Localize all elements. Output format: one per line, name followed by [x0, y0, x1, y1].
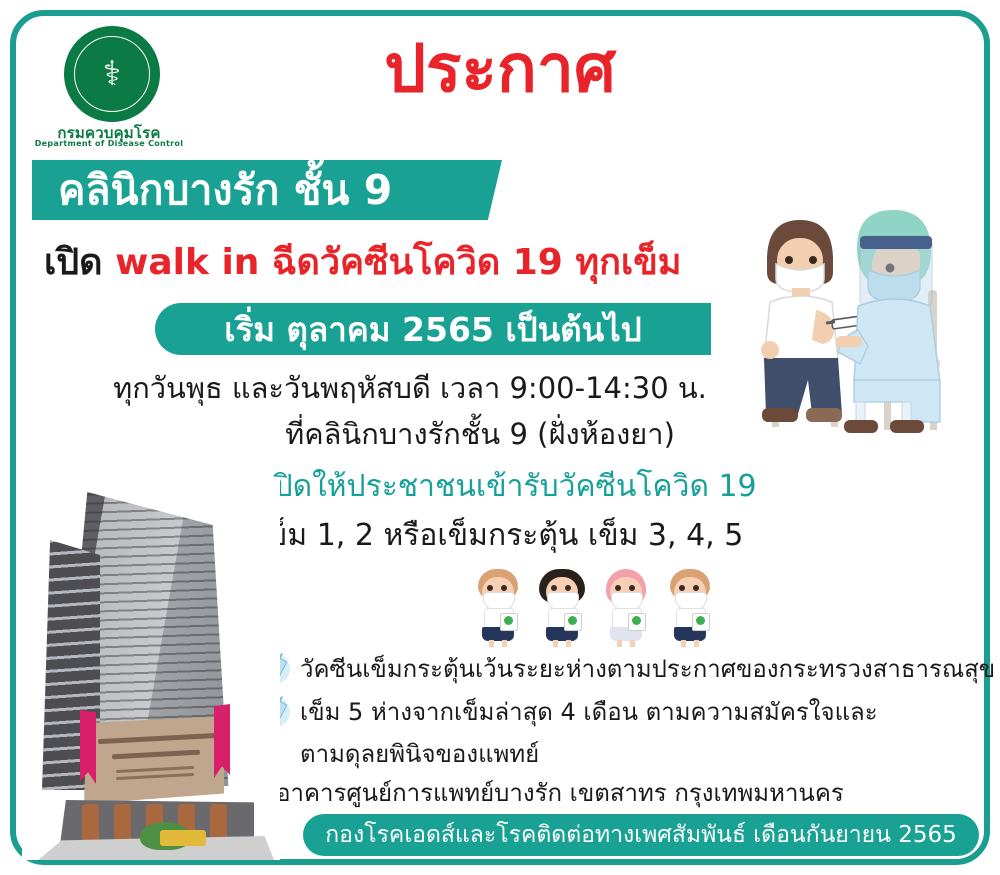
vaccine-card-icon	[500, 613, 518, 631]
announcement-poster: ⚕ กรมควบคุมโรค Department of Disease Con…	[0, 0, 1000, 875]
kid-4	[662, 565, 718, 647]
vaccination-illustration	[732, 190, 982, 455]
leg-right	[566, 640, 571, 647]
clinic-banner: คลินิกบางรัก ชั้น 9	[32, 160, 502, 220]
eye-right	[629, 585, 635, 591]
sign-text-line	[116, 773, 194, 780]
start-date-label: เริ่ม ตุลาคม 2565 เป็นต้นไป	[224, 313, 641, 346]
sign-text-line	[112, 750, 200, 760]
clinic-banner-label: คลินิกบางรัก ชั้น 9	[32, 170, 392, 211]
vehicle	[160, 830, 206, 846]
eye-right	[693, 585, 699, 591]
leg-left	[553, 640, 558, 647]
leg-left	[617, 640, 622, 647]
start-date-banner: เริ่ม ตุลาคม 2565 เป็นต้นไป	[155, 303, 711, 355]
leg-left	[489, 640, 494, 647]
vaccine-card-icon	[564, 613, 582, 631]
eye-right	[501, 585, 507, 591]
kid-1	[470, 565, 526, 647]
building-photo	[22, 478, 280, 860]
kid-2	[534, 565, 590, 647]
bullet-note: วัคซีนเข็มกระตุ้นเว้นระยะห่างตามประกาศขอ…	[300, 656, 995, 684]
footer-label: กองโรคเอดส์และโรคติดต่อทางเพศสัมพันธ์ เด…	[325, 824, 956, 847]
leg-right	[694, 640, 699, 647]
vaccine-card-icon	[692, 613, 710, 631]
bullet-note: ตามดุลยพินิจของแพทย์	[300, 741, 539, 769]
building-signboard	[84, 716, 224, 804]
eye-left	[551, 585, 557, 591]
masked-children-illustration	[470, 565, 720, 647]
leg-right	[630, 640, 635, 647]
eye-left	[615, 585, 621, 591]
page-title: ประกาศ	[0, 36, 1000, 102]
vaccine-card-icon	[628, 613, 646, 631]
leg-right	[502, 640, 507, 647]
eye-left	[487, 585, 493, 591]
eye-left	[679, 585, 685, 591]
walkin-prefix: เปิด	[44, 242, 115, 283]
leg-left	[681, 640, 686, 647]
patient-figure	[761, 220, 842, 422]
sign-text-line	[116, 766, 194, 773]
walkin-headline: เปิด walk in ฉีดวัคซีนโควิด 19 ทุกเข็ม	[44, 243, 764, 283]
footer-banner: กองโรคเอดส์และโรคติดต่อทางเพศสัมพันธ์ เด…	[303, 814, 979, 856]
eye-right	[565, 585, 571, 591]
sign-text-line	[98, 733, 218, 744]
kid-3	[598, 565, 654, 647]
walkin-highlight: walk in ฉีดวัคซีนโควิด 19 ทุกเข็ม	[115, 242, 681, 283]
department-name-english: Department of Disease Control	[34, 139, 184, 148]
bullet-note: เข็ม 5 ห่างจากเข็มล่าสุด 4 เดือน ตามความ…	[300, 699, 878, 727]
